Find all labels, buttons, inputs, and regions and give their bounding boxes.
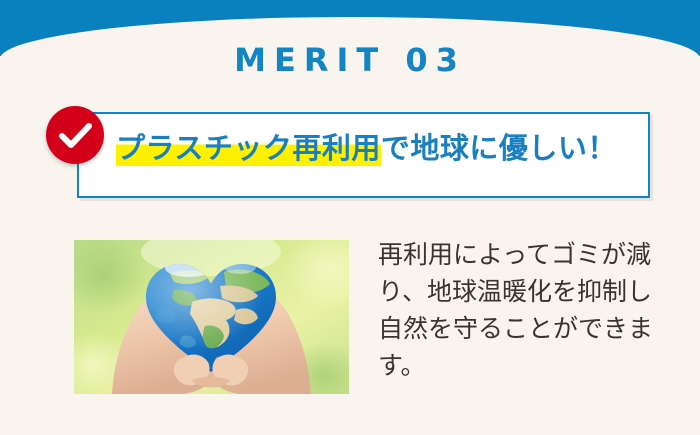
headline: プラスチック再利用で地球に優しい！ [116, 131, 636, 166]
headline-highlighted: プラスチック再利用 [116, 131, 381, 166]
check-icon [46, 106, 104, 164]
page-title: MERIT 03 [0, 44, 700, 76]
check-glyph [46, 106, 104, 164]
headline-rest: で地球に優しい！ [381, 131, 617, 165]
earth-heart-illustration [74, 240, 349, 394]
body-text: 再利用によってゴミが減り、地球温暖化を抑制し自然を守ることができます。 [378, 236, 658, 384]
merit-card: MERIT 03 プラスチック再利用で地球に優しい！ [0, 0, 700, 435]
earth-heart-photo [74, 240, 349, 394]
